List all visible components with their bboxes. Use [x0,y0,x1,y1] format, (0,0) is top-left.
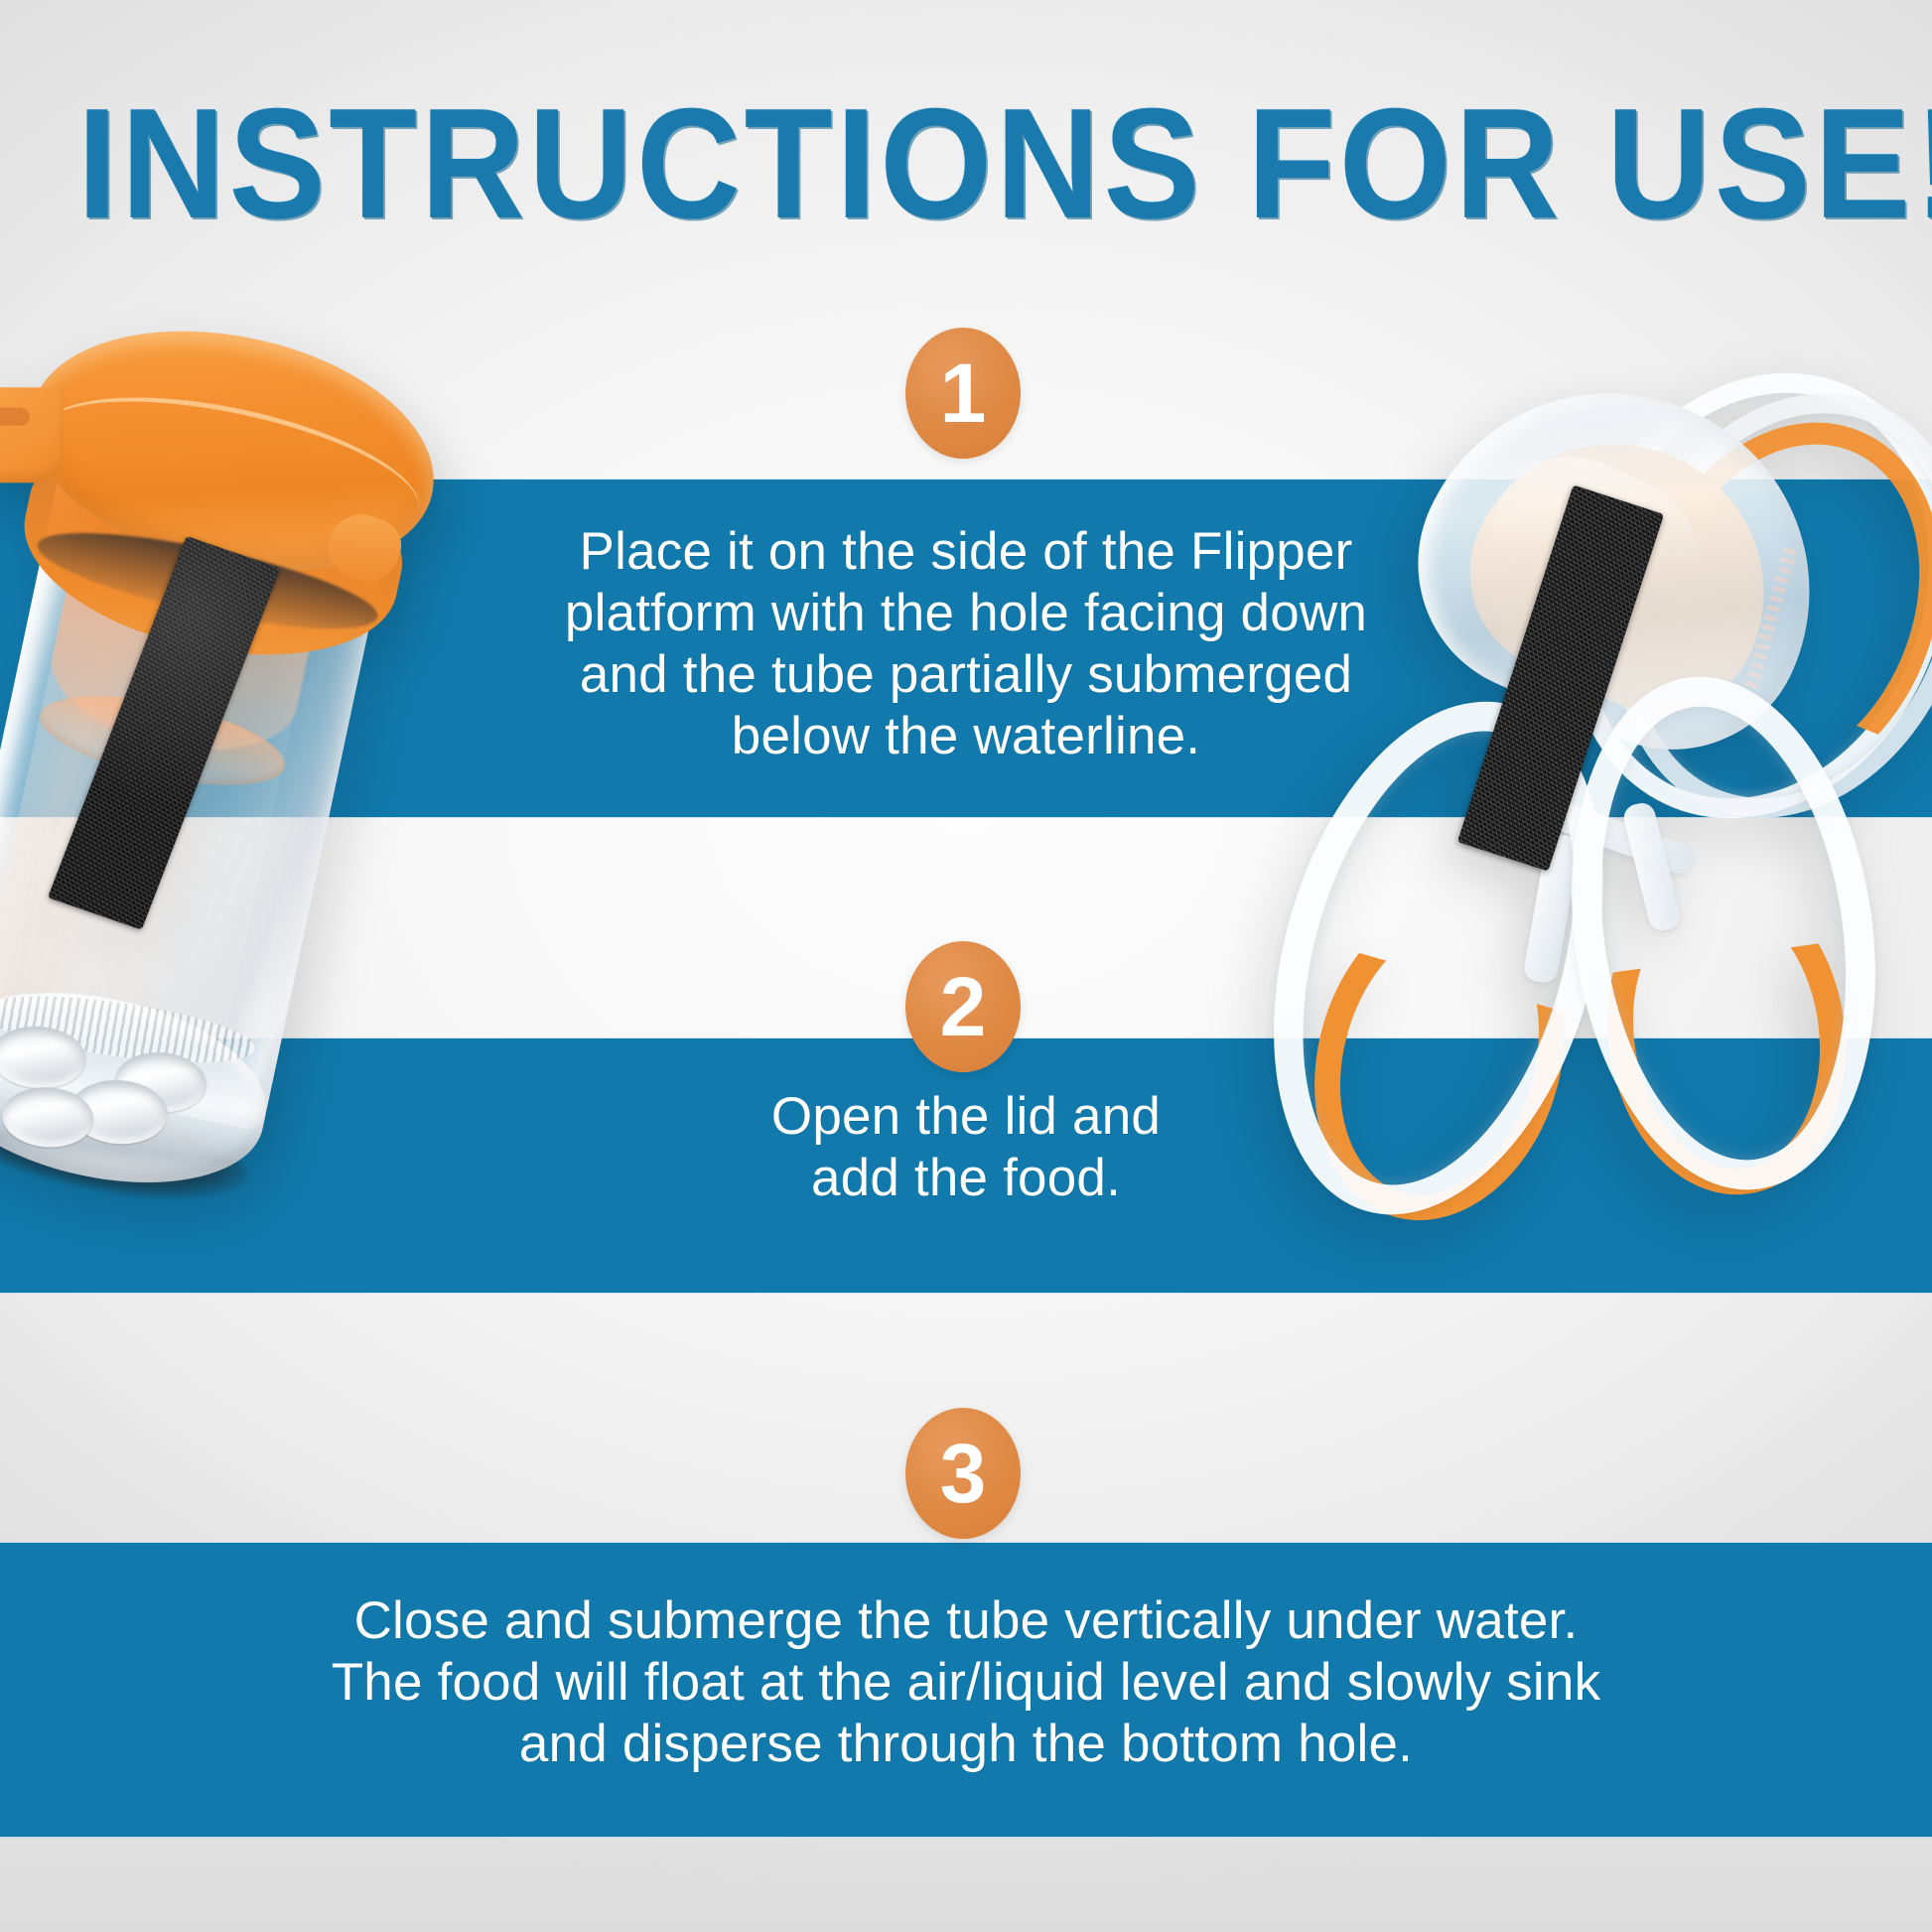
step-badge-number: 3 [940,1432,987,1515]
step-text-3: Close and submerge the tube vertically u… [0,1590,1932,1775]
step-badge-1: 1 [905,328,1021,459]
bottom-fade [0,1837,1932,1932]
lid-tab-notch [0,408,30,426]
step-band-3: Close and submerge the tube vertically u… [0,1543,1932,1837]
product-image-flipper-cleaner [1247,427,1932,1301]
step-badge-number: 2 [940,965,987,1048]
page-title: INSTRUCTIONS FOR USE! [77,85,1855,242]
infographic-canvas: INSTRUCTIONS FOR USE! [0,0,1932,1932]
step-badge-number: 1 [940,351,987,435]
step-badge-2: 2 [905,941,1021,1072]
lid-tab [0,387,64,483]
step-badge-3: 3 [905,1408,1021,1539]
